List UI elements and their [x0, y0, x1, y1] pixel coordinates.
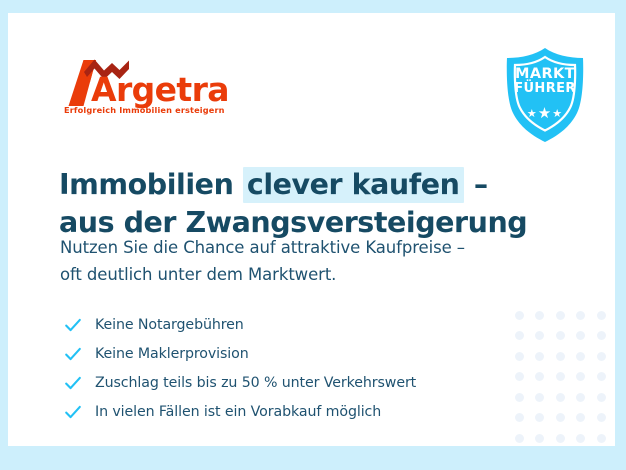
checklist-item: Keine Notargebühren [63, 310, 523, 339]
headline-line-1: Immobilien clever kaufen – [59, 166, 529, 204]
dot [576, 311, 585, 320]
dot [576, 434, 585, 443]
check-icon [63, 315, 83, 335]
dot [597, 413, 606, 422]
badge-stars: ★★★ [495, 106, 595, 121]
headline-highlight: clever kaufen [243, 167, 465, 203]
checklist-item-label: Zuschlag teils bis zu 50 % unter Verkehr… [95, 375, 416, 391]
dot [576, 413, 585, 422]
dot [597, 311, 606, 320]
dot [535, 434, 544, 443]
check-icon [63, 402, 83, 422]
dot [556, 393, 565, 402]
badge-line2: FÜHRER [495, 82, 595, 96]
star-icon-center: ★ [538, 105, 552, 122]
dot [535, 413, 544, 422]
headline-prefix: Immobilien [59, 168, 243, 201]
checklist-item-label: Keine Notargebühren [95, 317, 244, 333]
checklist-item-label: In vielen Fällen ist ein Vorabkauf mögli… [95, 404, 381, 420]
dot [576, 393, 585, 402]
benefits-checklist: Keine NotargebührenKeine Maklerprovision… [63, 310, 523, 426]
marktfuehrer-badge: MARKT FÜHRER ★★★ [495, 45, 595, 145]
dot [556, 311, 565, 320]
subheading-line-1: Nutzen Sie die Chance auf attraktive Kau… [60, 235, 540, 262]
dot [597, 372, 606, 381]
dot [535, 331, 544, 340]
dot [535, 372, 544, 381]
dot [556, 352, 565, 361]
check-icon [63, 373, 83, 393]
subheading: Nutzen Sie die Chance auf attraktive Kau… [60, 235, 540, 288]
dot [597, 393, 606, 402]
dot-grid-decoration [509, 305, 615, 446]
check-icon [63, 344, 83, 364]
dot [576, 331, 585, 340]
dot [556, 331, 565, 340]
argetra-logo[interactable]: Argetra Erfolgreich Immobilien ersteiger… [63, 58, 263, 123]
dot [576, 372, 585, 381]
dot [576, 352, 585, 361]
headline-suffix: – [464, 168, 487, 201]
dot [556, 434, 565, 443]
badge-text: MARKT FÜHRER [495, 67, 595, 96]
badge-line1: MARKT [495, 67, 595, 82]
dot [535, 352, 544, 361]
logo-tagline: Erfolgreich Immobilien ersteigern [64, 105, 225, 115]
logo-wordmark: Argetra [91, 73, 229, 106]
dot [556, 413, 565, 422]
dot [597, 331, 606, 340]
star-icon-left: ★ [527, 108, 538, 120]
checklist-item-label: Keine Maklerprovision [95, 346, 249, 362]
checklist-item: Keine Maklerprovision [63, 339, 523, 368]
star-icon-right: ★ [552, 108, 563, 120]
dot [597, 352, 606, 361]
dot [597, 434, 606, 443]
checklist-item: Zuschlag teils bis zu 50 % unter Verkehr… [63, 368, 523, 397]
banner-stage: Argetra Erfolgreich Immobilien ersteiger… [0, 0, 626, 470]
dot [556, 372, 565, 381]
subheading-line-2: oft deutlich unter dem Marktwert. [60, 262, 540, 289]
banner-card: Argetra Erfolgreich Immobilien ersteiger… [8, 13, 615, 446]
checklist-item: In vielen Fällen ist ein Vorabkauf mögli… [63, 397, 523, 426]
dot [535, 311, 544, 320]
dot [515, 434, 524, 443]
page-title: Immobilien clever kaufen – aus der Zwang… [59, 166, 529, 241]
dot [535, 393, 544, 402]
